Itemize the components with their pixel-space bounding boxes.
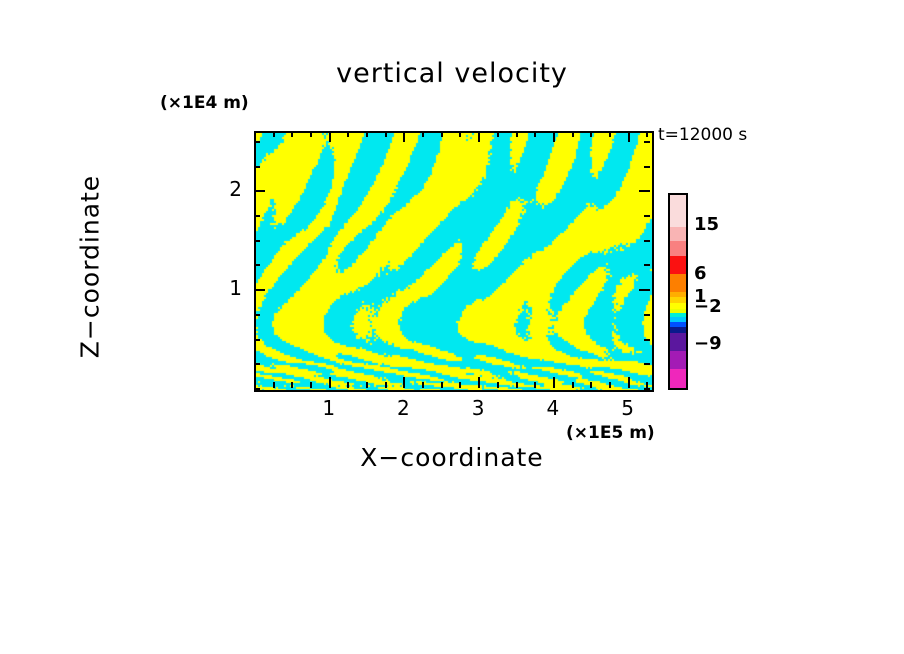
colorbar-band bbox=[670, 227, 686, 242]
tick-mark bbox=[478, 131, 480, 142]
tick-mark bbox=[254, 141, 260, 143]
tick-mark bbox=[254, 314, 260, 316]
tick-mark bbox=[534, 131, 536, 137]
tick-mark bbox=[273, 382, 275, 388]
velocity-field-image bbox=[256, 133, 652, 390]
tick-mark bbox=[590, 131, 592, 137]
tick-mark bbox=[553, 377, 555, 388]
tick-mark bbox=[254, 388, 260, 390]
tick-mark bbox=[644, 314, 650, 316]
tick-mark bbox=[609, 131, 611, 137]
colorbar-label: 6 bbox=[694, 263, 707, 284]
x-axis-title: X−coordinate bbox=[254, 443, 650, 472]
tick-mark bbox=[572, 131, 574, 137]
colorbar-band bbox=[670, 351, 686, 369]
chart-title: vertical velocity bbox=[0, 58, 904, 89]
tick-mark bbox=[572, 382, 574, 388]
tick-mark bbox=[644, 264, 650, 266]
tick-mark bbox=[422, 131, 424, 137]
tick-mark bbox=[422, 382, 424, 388]
tick-mark bbox=[646, 131, 648, 137]
tick-mark bbox=[644, 240, 650, 242]
y-axis-title: Z−coordinate bbox=[76, 117, 105, 417]
tick-mark bbox=[254, 166, 260, 168]
x-tick-label: 3 bbox=[458, 396, 498, 420]
tick-mark bbox=[347, 131, 349, 137]
tick-mark bbox=[254, 264, 260, 266]
tick-mark bbox=[310, 382, 312, 388]
tick-mark bbox=[385, 382, 387, 388]
tick-mark bbox=[644, 215, 650, 217]
tick-mark bbox=[366, 382, 368, 388]
tick-mark bbox=[254, 339, 260, 341]
tick-mark bbox=[254, 190, 265, 192]
tick-mark bbox=[459, 131, 461, 137]
tick-mark bbox=[553, 131, 555, 142]
tick-mark bbox=[291, 131, 293, 137]
tick-mark bbox=[628, 131, 630, 142]
tick-mark bbox=[329, 131, 331, 142]
tick-mark bbox=[366, 131, 368, 137]
colorbar-band bbox=[670, 256, 686, 274]
tick-mark bbox=[639, 190, 650, 192]
tick-mark bbox=[273, 131, 275, 137]
tick-mark bbox=[385, 131, 387, 137]
tick-mark bbox=[254, 215, 260, 217]
tick-mark bbox=[478, 377, 480, 388]
heatmap-plot-area bbox=[254, 131, 654, 392]
tick-mark bbox=[254, 240, 260, 242]
tick-mark bbox=[534, 382, 536, 388]
tick-mark bbox=[644, 388, 650, 390]
colorbar-band bbox=[670, 274, 686, 292]
time-annotation: t=12000 s bbox=[658, 125, 747, 145]
tick-mark bbox=[254, 363, 260, 365]
x-tick-label: 5 bbox=[608, 396, 648, 420]
colorbar-band bbox=[670, 333, 686, 351]
tick-mark bbox=[497, 131, 499, 137]
tick-mark bbox=[291, 382, 293, 388]
colorbar-label: 15 bbox=[694, 214, 719, 235]
colorbar-label: −2 bbox=[694, 296, 722, 317]
colorbar-band bbox=[670, 195, 686, 227]
x-axis-units-label: (×1E5 m) bbox=[566, 423, 655, 443]
tick-mark bbox=[347, 382, 349, 388]
colorbar-band bbox=[670, 241, 686, 256]
colorbar-band bbox=[670, 369, 686, 388]
tick-mark bbox=[441, 131, 443, 137]
tick-mark bbox=[254, 289, 265, 291]
tick-mark bbox=[516, 131, 518, 137]
tick-mark bbox=[590, 382, 592, 388]
y-tick-label: 1 bbox=[202, 276, 242, 300]
colorbar-label: −9 bbox=[694, 333, 722, 354]
tick-mark bbox=[459, 382, 461, 388]
y-tick-label: 2 bbox=[202, 177, 242, 201]
tick-mark bbox=[644, 339, 650, 341]
tick-mark bbox=[639, 289, 650, 291]
y-axis-units-label: (×1E4 m) bbox=[160, 93, 249, 113]
colorbar bbox=[668, 193, 688, 390]
x-tick-label: 4 bbox=[533, 396, 573, 420]
tick-mark bbox=[609, 382, 611, 388]
tick-mark bbox=[329, 377, 331, 388]
tick-mark bbox=[497, 382, 499, 388]
tick-mark bbox=[403, 131, 405, 142]
tick-mark bbox=[310, 131, 312, 137]
tick-mark bbox=[644, 166, 650, 168]
tick-mark bbox=[516, 382, 518, 388]
tick-mark bbox=[644, 363, 650, 365]
tick-mark bbox=[628, 377, 630, 388]
tick-mark bbox=[644, 141, 650, 143]
tick-mark bbox=[254, 131, 256, 137]
tick-mark bbox=[441, 382, 443, 388]
tick-mark bbox=[403, 377, 405, 388]
x-tick-label: 2 bbox=[383, 396, 423, 420]
x-tick-label: 1 bbox=[309, 396, 349, 420]
